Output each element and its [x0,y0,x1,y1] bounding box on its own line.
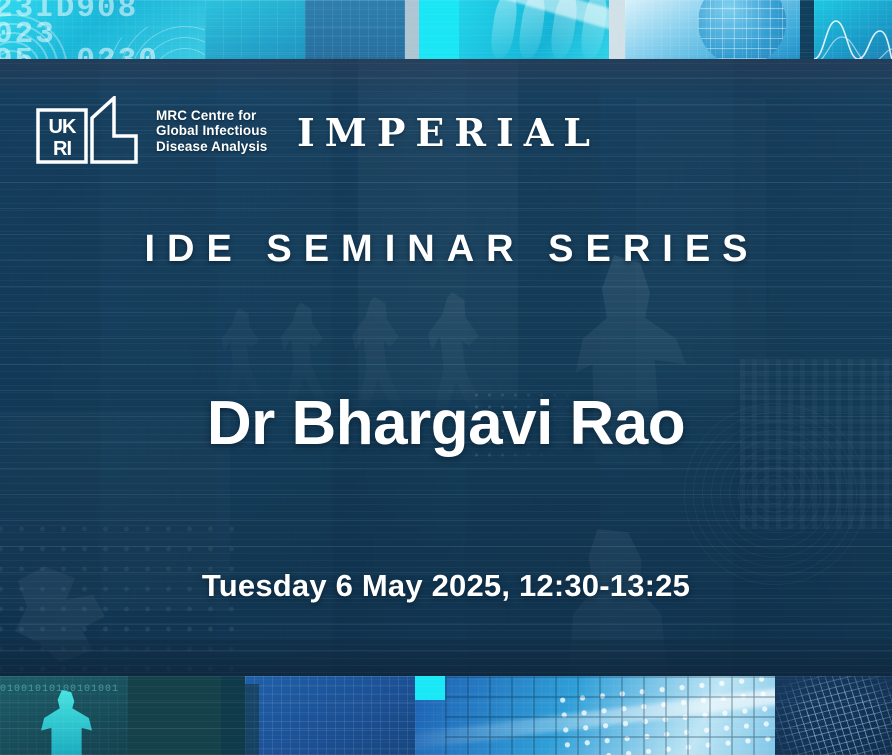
mrc-centre-text: MRC Centre for Global Infectious Disease… [156,108,267,155]
mrc-line-1: MRC Centre for [156,108,267,124]
svg-text:UK: UK [49,116,77,138]
series-title: IDE SEMINAR SERIES [0,228,892,271]
ukri-logo-icon: UK RI [36,96,144,166]
mrc-line-2: Global Infectious [156,123,267,139]
mrc-line-3: Disease Analysis [156,139,267,155]
seminar-poster: 23ID908 023 95 0230 [0,0,892,755]
event-datetime: Tuesday 6 May 2025, 12:30-13:25 [0,568,892,604]
ukri-logo: UK RI [36,96,144,166]
speaker-name: Dr Bhargavi Rao [0,388,892,459]
imperial-wordmark: IMPERIAL [297,110,600,155]
poster-content: UK RI MRC Centre for Global Infectious D… [0,0,892,755]
logo-lockup: UK RI MRC Centre for Global Infectious D… [36,96,267,166]
svg-text:RI: RI [53,138,71,160]
